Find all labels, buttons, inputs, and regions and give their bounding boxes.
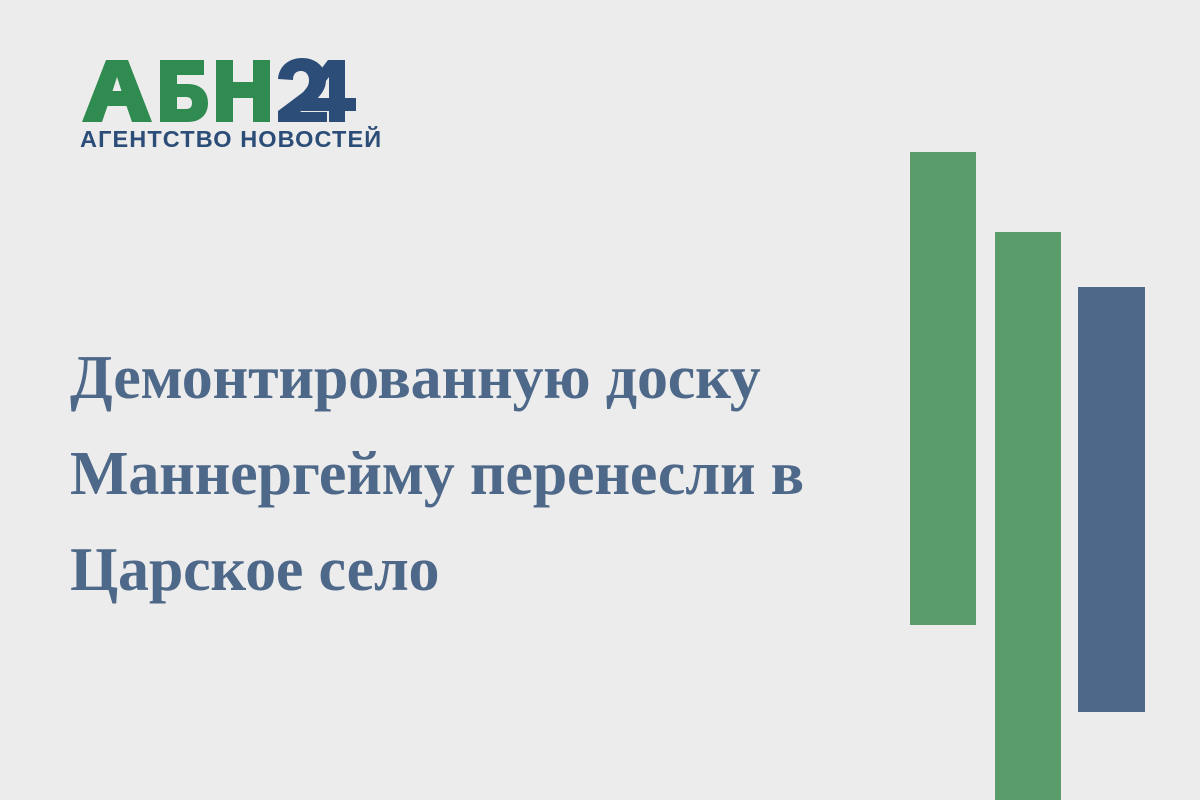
logo-tagline: АГЕНТСТВО НОВОСТЕЙ xyxy=(80,126,382,153)
accent-bar-2 xyxy=(995,232,1061,800)
news-card: АГЕНТСТВО НОВОСТЕЙ Демонтированную доску… xyxy=(0,0,1200,800)
abn24-logo[interactable]: АГЕНТСТВО НОВОСТЕЙ xyxy=(78,58,378,158)
headline: Демонтированную доску Маннергейму перене… xyxy=(70,330,870,618)
accent-bar-3 xyxy=(1078,287,1145,712)
accent-bar-1 xyxy=(910,152,976,625)
headline-line-2: Маннергейму перенесли в xyxy=(70,426,870,522)
headline-line-3: Царское село xyxy=(70,522,870,618)
headline-line-1: Демонтированную доску xyxy=(70,330,870,426)
abn24-wordmark-icon xyxy=(78,58,358,124)
